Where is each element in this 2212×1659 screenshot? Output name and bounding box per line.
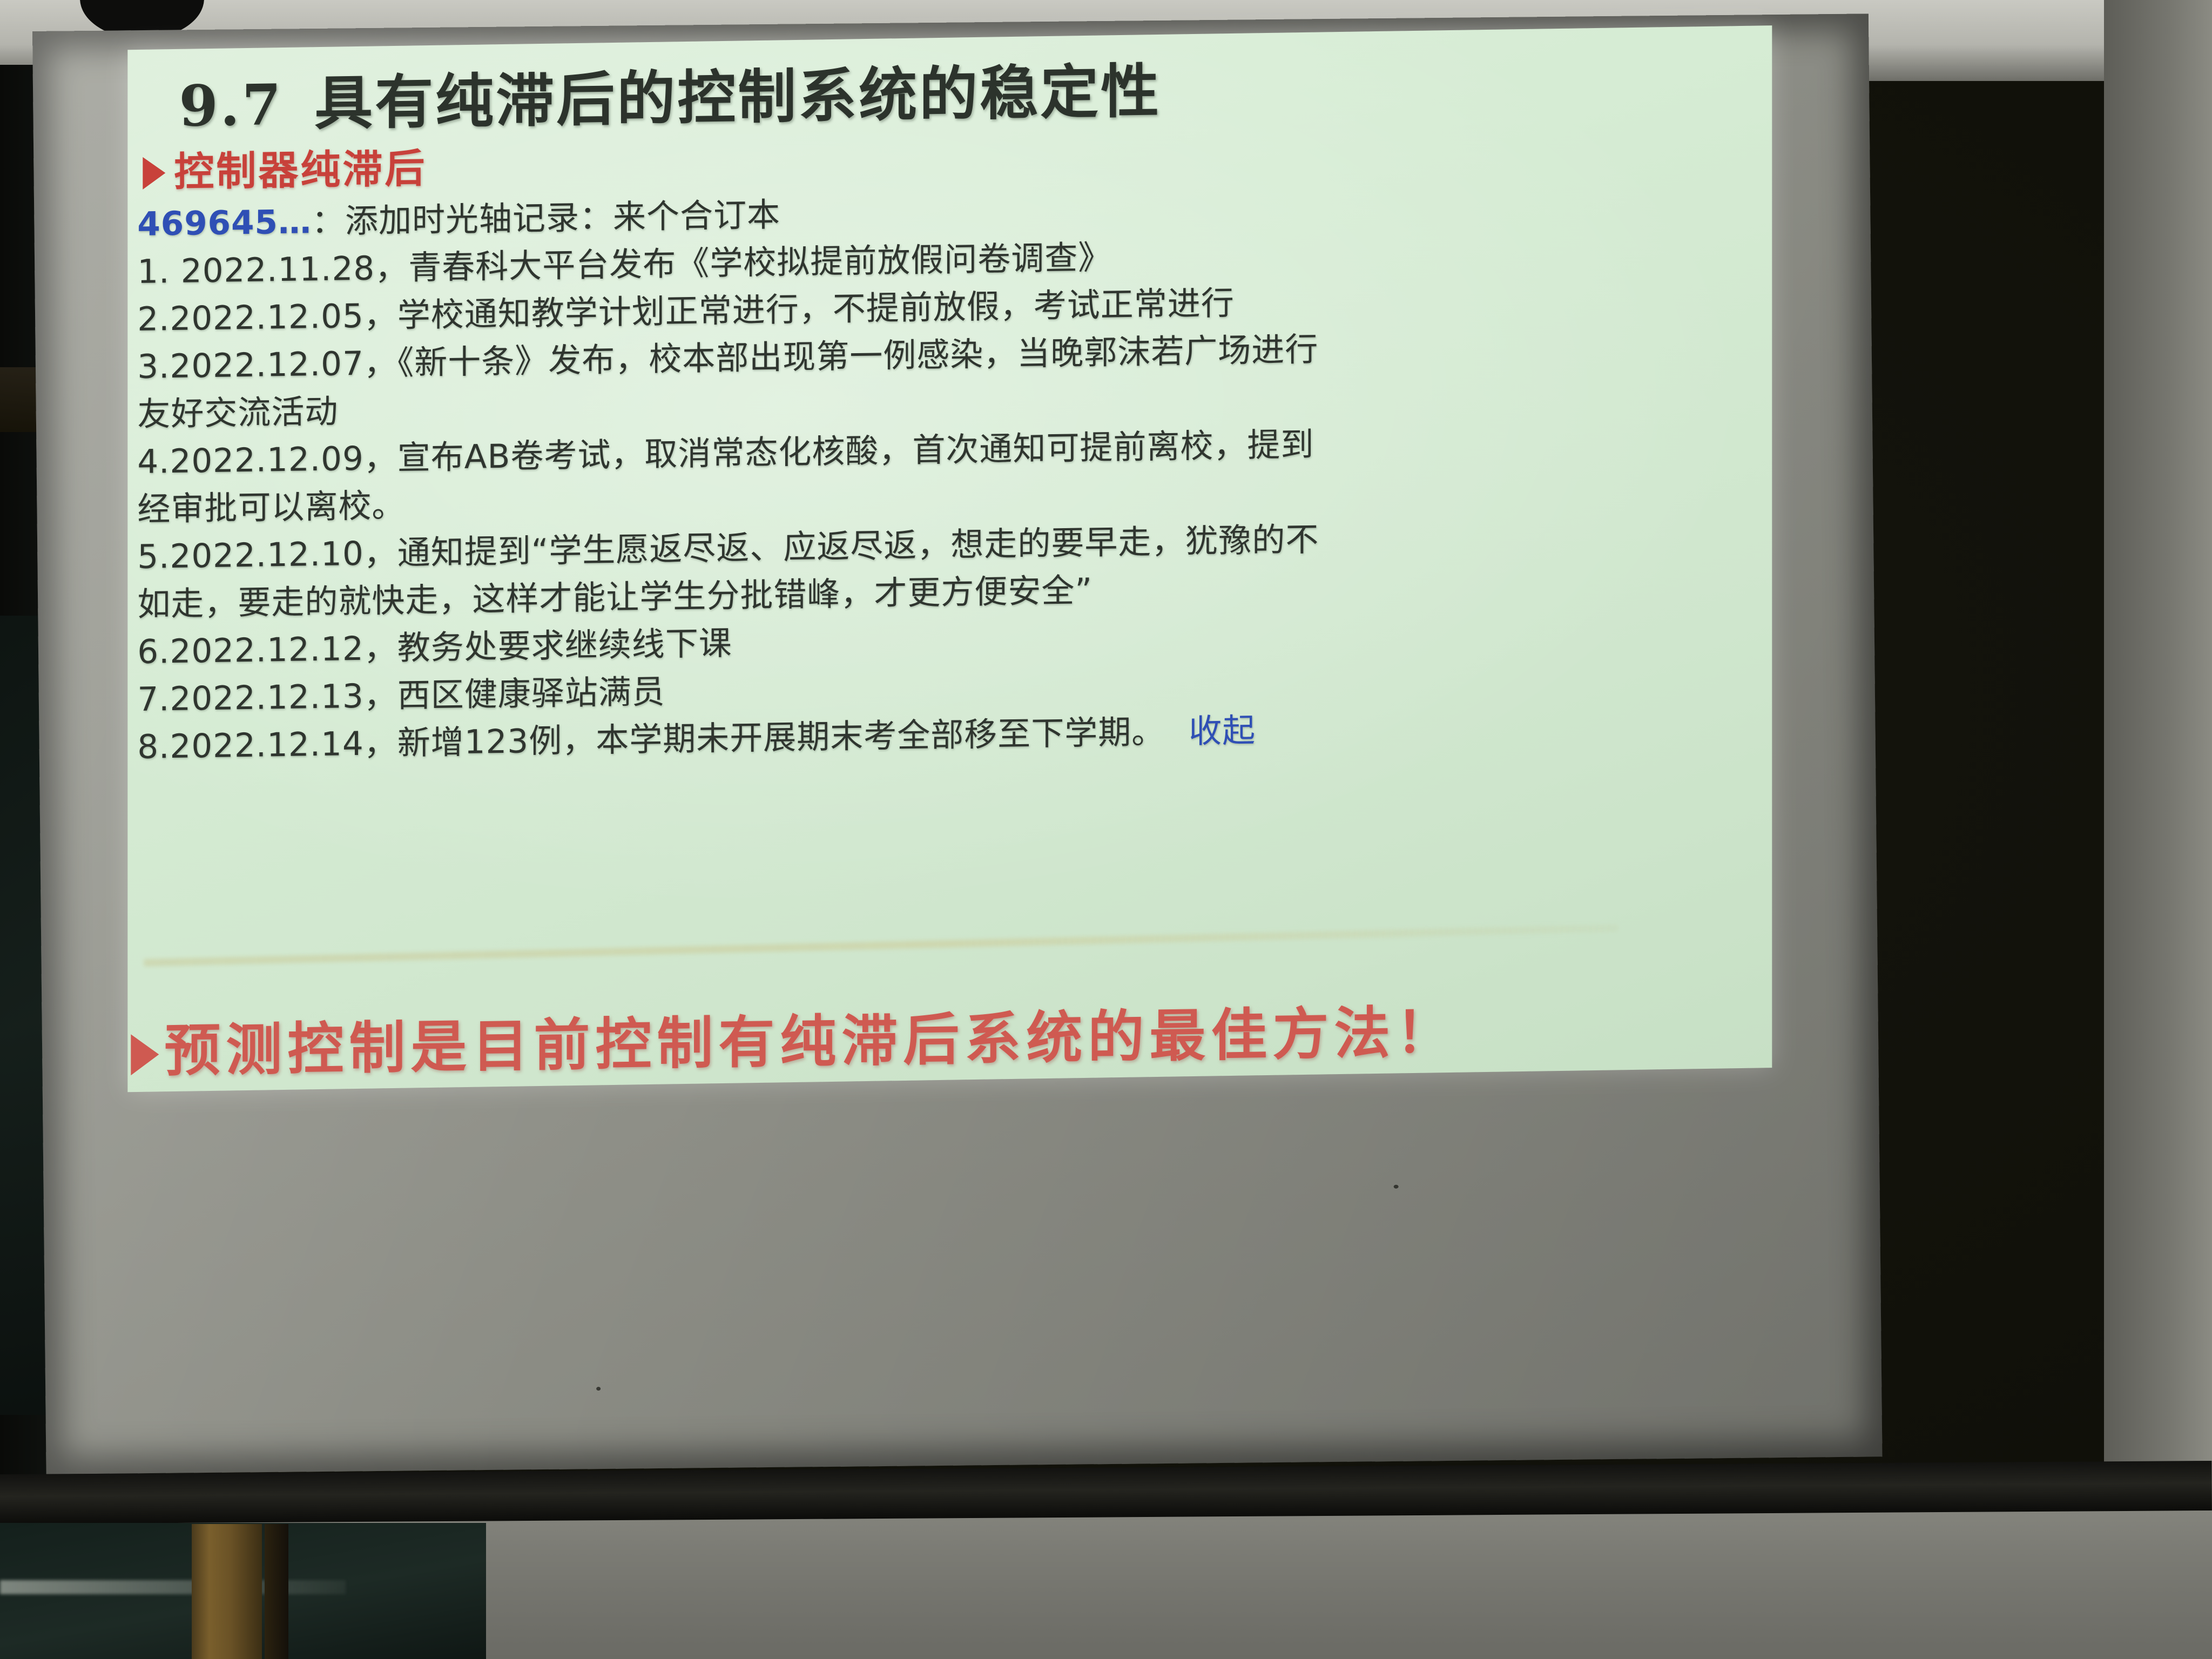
projection-screen: 9.7具有纯滞后的控制系统的稳定性 控制器纯滞后 469645…：添加时光轴记录… [32,14,1882,1474]
entry-index: 3. [137,347,170,386]
slide-title-text: 具有纯滞后的控制系统的稳定性 [314,57,1161,138]
projected-slide: 9.7具有纯滞后的控制系统的稳定性 控制器纯滞后 469645…：添加时光轴记录… [127,25,1772,1092]
timeline-header-text: ：添加时光轴记录：来个合订本 [312,195,780,241]
wooden-frame-post [192,1524,262,1659]
photograph-of-classroom: 9.7具有纯滞后的控制系统的稳定性 控制器纯滞后 469645…：添加时光轴记录… [0,0,2212,1659]
entry-date: 2022.11.28 [181,249,375,291]
timeline-block: 469645…：添加时光轴记录：来个合订本 1. 2022.11.28，青春科大… [137,177,1752,771]
screen-speck [596,1387,601,1391]
entry-text: ，学校通知教学计划正常进行，不提前放假，考试正常进行 [364,284,1235,335]
triangle-bullet-icon [143,157,165,190]
entry-date: 2022.12.12 [170,630,364,671]
screen-speck [1394,1185,1399,1189]
entry-index: 8. [137,727,170,766]
entry-date: 2022.12.05 [170,297,364,338]
entry-index: 1. [137,252,170,291]
entry-text: 友好交流活动 [137,393,338,434]
slide-conclusion: 预测控制是目前控制有纯滞后系统的最佳方法！ [131,981,1772,1087]
entry-text: ，西区健康驿站满员 [364,673,665,716]
entry-index: 6. [137,632,170,671]
entry-text: ，通知提到“学生愿返尽返、应返尽返，想走的要早走，犹豫的不 [364,521,1319,573]
slide-subheading-text: 控制器纯滞后 [174,145,427,195]
slide-conclusion-text: 预测控制是目前控制有纯滞后系统的最佳方法！ [164,999,1457,1084]
horizontal-divider [144,924,1618,966]
entry-text: ，《新十条》发布，校本部出现第一例感染，当晚郭沫若广场进行 [364,331,1319,383]
entry-index: 4. [137,442,170,481]
entry-date: 2022.12.07 [170,345,364,386]
entry-index: 7. [137,680,170,719]
entry-index: 5. [137,537,170,576]
chalk-smudge [0,1580,346,1594]
entry-text: ，宣布AB卷考试，取消常态化核酸，首次通知可提前离校，提到 [364,426,1314,478]
entry-date: 2022.12.10 [170,535,364,576]
collapse-link[interactable]: 收起 [1189,711,1256,751]
entry-text: 如走，要走的就快走，这样才能让学生分批错峰，才更方便安全” [137,571,1092,624]
triangle-bullet-icon [131,1034,159,1075]
entry-date: 2022.12.13 [170,677,364,718]
entry-text: ，青春科大平台发布《学校拟提前放假问卷调查》 [375,238,1111,287]
entry-date: 2022.12.14 [170,725,364,766]
wooden-frame-post-shadow [265,1524,288,1659]
entry-text: 经审批可以离校。 [137,487,405,529]
entry-index: 2. [137,300,170,339]
entry-text: ，教务处要求继续线下课 [364,624,732,668]
entry-text: ，新增123例，本学期未开展期末考全部移至下学期。 [364,713,1165,763]
slide-title-number: 9.7 [179,71,283,139]
right-wall [2104,0,2212,1659]
timeline-user-id: 469645… [137,203,312,244]
entry-date: 2022.12.09 [170,440,364,481]
